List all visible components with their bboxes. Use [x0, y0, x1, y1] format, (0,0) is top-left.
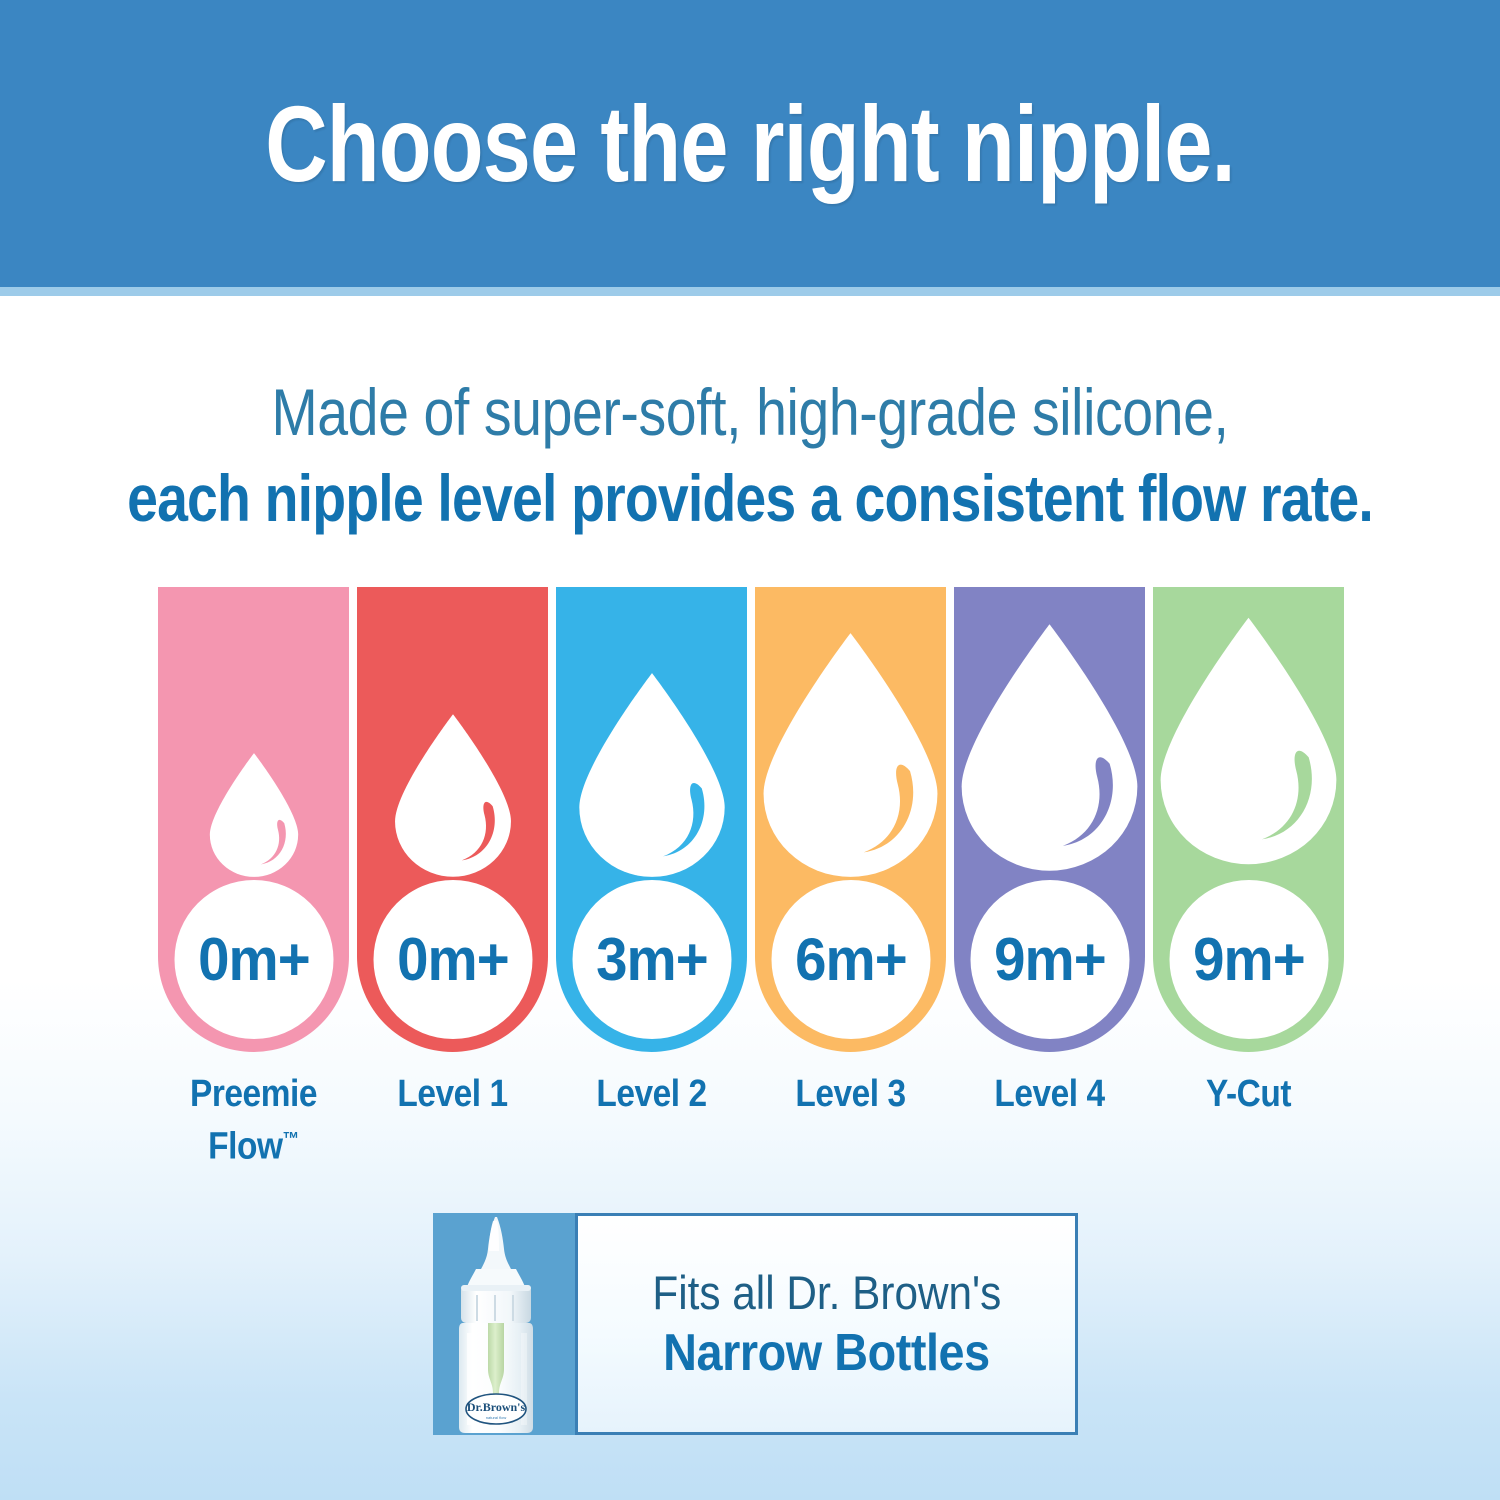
- age-badge-y-cut: 9m+: [1169, 880, 1328, 1039]
- fits-text-box: Fits all Dr. Brown's Narrow Bottles: [575, 1213, 1078, 1435]
- label-level-1: Level 1: [368, 1072, 536, 1170]
- water-drop-preemie-icon: [158, 627, 349, 877]
- water-drop-y-cut-icon: [1153, 627, 1344, 877]
- subtitle-line-2: each nipple level provides a consistent …: [120, 456, 1380, 540]
- age-badge-level-4: 9m+: [970, 880, 1129, 1039]
- nipple-column-y-cut[interactable]: 9m+: [1153, 587, 1344, 1052]
- water-drop-level-1-icon: [357, 627, 548, 877]
- water-drop-level-4-icon: [954, 627, 1145, 877]
- age-badge-preemie: 0m+: [174, 880, 333, 1039]
- infographic-page: Choose the right nipple. Made of super-s…: [0, 0, 1500, 1500]
- age-badge-level-1: 0m+: [373, 880, 532, 1039]
- narrow-bottle-image: Dr.Brown's natural flow: [433, 1213, 575, 1435]
- nipple-level-labels: Preemie Flow™ Level 1 Level 2 Level 3 Le…: [158, 1072, 1344, 1170]
- age-badge-level-2: 3m+: [572, 880, 731, 1039]
- nipple-column-preemie[interactable]: 0m+: [158, 587, 349, 1052]
- age-badge-label: 0m+: [198, 925, 310, 994]
- age-badge-label: 9m+: [1193, 925, 1305, 994]
- age-badge-label: 0m+: [397, 925, 509, 994]
- nipple-column-level-4[interactable]: 9m+: [954, 587, 1145, 1052]
- label-y-cut: Y-Cut: [1164, 1072, 1332, 1170]
- bottle-photo-panel: Dr.Brown's natural flow: [433, 1213, 575, 1435]
- page-title: Choose the right nipple.: [150, 0, 1350, 287]
- subtitle-line-1: Made of super-soft, high-grade silicone,: [120, 372, 1380, 452]
- nipple-column-level-3[interactable]: 6m+: [755, 587, 946, 1052]
- water-drop-level-2-icon: [556, 627, 747, 877]
- nipple-column-level-2[interactable]: 3m+: [556, 587, 747, 1052]
- nipple-levels-chart: 0m+ 0m+ 3m+: [158, 587, 1344, 1052]
- label-level-2: Level 2: [567, 1072, 735, 1170]
- svg-text:natural flow: natural flow: [486, 1415, 507, 1420]
- trademark-symbol: ™: [283, 1129, 299, 1150]
- age-badge-label: 6m+: [795, 925, 907, 994]
- age-badge-label: 9m+: [994, 925, 1106, 994]
- label-level-3: Level 3: [766, 1072, 934, 1170]
- label-line-1: Preemie: [190, 1073, 317, 1115]
- age-badge-label: 3m+: [596, 925, 708, 994]
- label-preemie-flow: Preemie Flow™: [169, 1072, 337, 1170]
- water-drop-level-3-icon: [755, 627, 946, 877]
- svg-text:Dr.Brown's: Dr.Brown's: [467, 1400, 526, 1414]
- age-badge-level-3: 6m+: [771, 880, 930, 1039]
- nipple-column-level-1[interactable]: 0m+: [357, 587, 548, 1052]
- subtitle-block: Made of super-soft, high-grade silicone,…: [0, 372, 1500, 540]
- fits-line-1: Fits all Dr. Brown's: [652, 1264, 1001, 1322]
- label-level-4: Level 4: [965, 1072, 1133, 1170]
- fits-line-2: Narrow Bottles: [663, 1322, 990, 1384]
- header-underline: [0, 287, 1500, 296]
- fits-callout: Dr.Brown's natural flow Fits all Dr. Bro…: [433, 1213, 1078, 1435]
- label-line-2: Flow: [208, 1126, 282, 1168]
